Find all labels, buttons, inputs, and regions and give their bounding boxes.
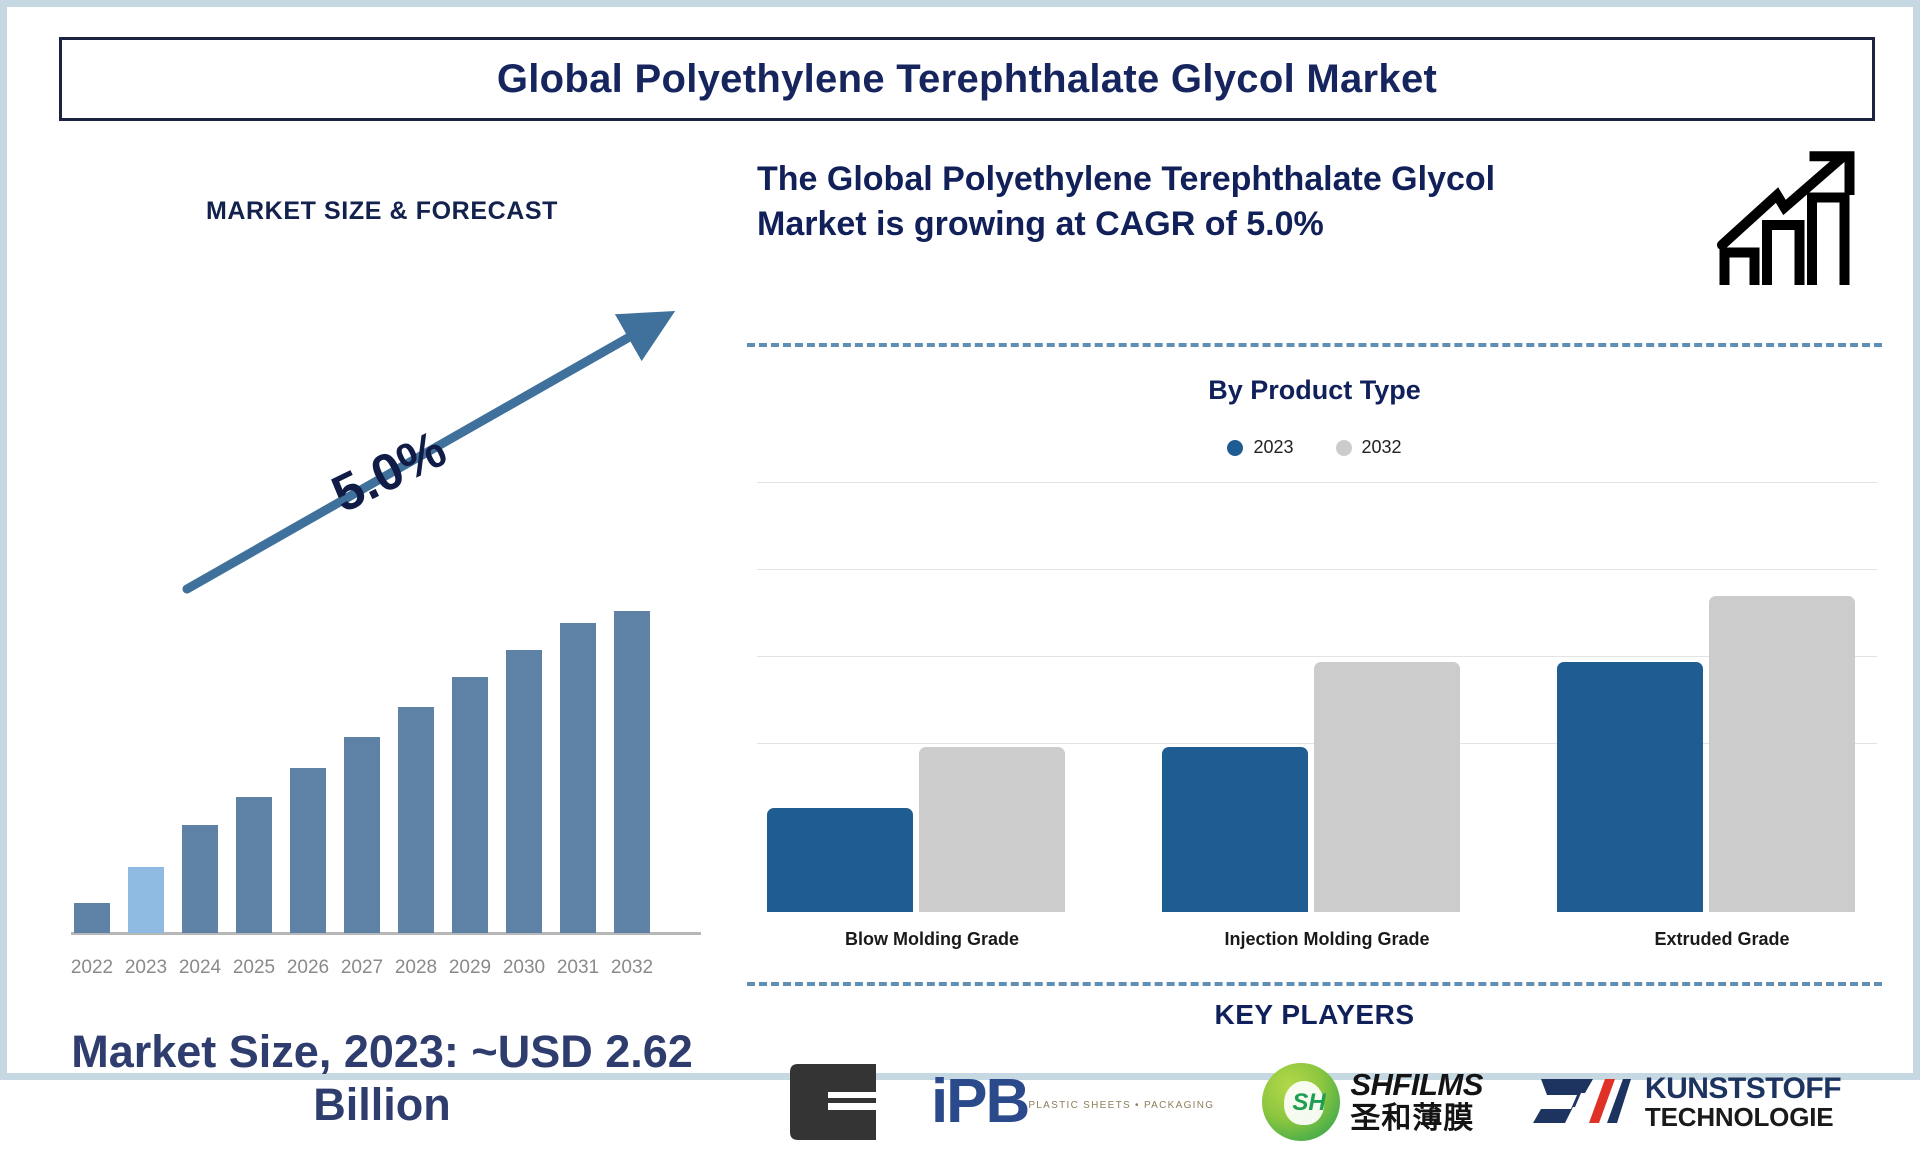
key-players-logos: iPB PLASTIC SHEETS • PACKAGING SH SHFILM… — [747, 1042, 1882, 1162]
sm-line-2: TECHNOLOGIE — [1645, 1104, 1841, 1130]
legend-dot-icon — [1336, 440, 1352, 456]
market-size-bar — [506, 650, 542, 933]
year-label: 2023 — [116, 957, 176, 979]
bar-2032 — [1314, 662, 1460, 912]
bar-group: Injection Molding Grade — [1162, 564, 1492, 912]
legend-dot-icon — [1227, 440, 1243, 456]
right-panel: The Global Polyethylene Terephthalate Gl… — [747, 137, 1897, 1057]
bar-2032 — [1709, 596, 1855, 912]
market-size-footer: Market Size, 2023: ~USD 2.62 Billion — [37, 1025, 727, 1131]
year-label: 2024 — [170, 957, 230, 979]
growth-chart-arrow-icon — [1712, 145, 1862, 295]
market-size-bar — [236, 797, 272, 933]
year-label: 2027 — [332, 957, 392, 979]
year-label: 2031 — [548, 957, 608, 979]
bar-2023 — [1162, 747, 1308, 912]
legend-item-2032: 2032 — [1336, 437, 1402, 458]
market-size-plot-area — [49, 297, 719, 947]
market-size-bar — [398, 707, 434, 933]
sm-line-1: KUNSTSTOFF — [1645, 1074, 1841, 1104]
logo-sm-kunststoff: KUNSTSTOFF TECHNOLOGIE — [1531, 1073, 1841, 1131]
ipb-tagline: PLASTIC SHEETS • PACKAGING — [1028, 1100, 1214, 1111]
divider-bottom — [747, 982, 1882, 986]
covestro-c-icon — [788, 1058, 883, 1146]
market-size-bar-chart: 5.0% 20222023202420252026202720282029203… — [49, 297, 719, 992]
legend-label: 2023 — [1253, 437, 1293, 458]
market-size-forecast-panel: MARKET SIZE & FORECAST 5.0% 202220232024… — [27, 137, 737, 1057]
chart-legend: 20232032 — [747, 437, 1882, 458]
by-product-type-chart: Blow Molding GradeInjection Molding Grad… — [757, 482, 1877, 912]
category-label: Injection Molding Grade — [1162, 929, 1492, 950]
bar-2023 — [1557, 662, 1703, 912]
title-box: Global Polyethylene Terephthalate Glycol… — [59, 37, 1875, 121]
category-label: Extruded Grade — [1557, 929, 1887, 950]
market-size-bar — [74, 903, 110, 933]
bar-group: Extruded Grade — [1557, 564, 1887, 912]
bar-2032 — [919, 747, 1065, 912]
infographic-canvas: Global Polyethylene Terephthalate Glycol… — [0, 0, 1920, 1080]
bar-2023 — [767, 808, 913, 912]
year-label: 2022 — [62, 957, 122, 979]
legend-item-2023: 2023 — [1227, 437, 1293, 458]
gridline — [757, 482, 1877, 483]
logo-sh-films: SH SHFILMS 圣和薄膜 — [1262, 1063, 1483, 1141]
year-label: 2025 — [224, 957, 284, 979]
market-size-bar — [344, 737, 380, 933]
year-label: 2026 — [278, 957, 338, 979]
year-label: 2030 — [494, 957, 554, 979]
by-product-type-title: By Product Type — [747, 375, 1882, 406]
sh-films-wordmark: SHFILMS — [1350, 1069, 1483, 1102]
market-size-bar — [128, 867, 164, 933]
sh-films-circle-icon: SH — [1262, 1063, 1340, 1141]
category-label: Blow Molding Grade — [767, 929, 1097, 950]
market-size-bar — [614, 611, 650, 933]
market-size-bar — [182, 825, 218, 933]
market-size-bar — [290, 768, 326, 933]
divider-top — [747, 343, 1882, 347]
sh-films-chinese-name: 圣和薄膜 — [1350, 1102, 1483, 1135]
x-axis-line — [71, 932, 701, 935]
logo-covestro — [788, 1058, 883, 1146]
year-axis-labels: 2022202320242025202620272028202920302031… — [49, 957, 719, 987]
ipb-wordmark: iPB — [931, 1071, 1028, 1133]
page-title: Global Polyethylene Terephthalate Glycol… — [497, 57, 1437, 102]
sm-mark-icon — [1531, 1073, 1631, 1131]
market-size-bar — [560, 623, 596, 933]
logo-ipb: iPB PLASTIC SHEETS • PACKAGING — [931, 1071, 1214, 1133]
legend-label: 2032 — [1362, 437, 1402, 458]
key-players-title: KEY PLAYERS — [747, 999, 1882, 1031]
year-label: 2028 — [386, 957, 446, 979]
headline-text: The Global Polyethylene Terephthalate Gl… — [757, 157, 1557, 247]
bar-group: Blow Molding Grade — [767, 564, 1097, 912]
market-size-heading: MARKET SIZE & FORECAST — [27, 197, 737, 226]
year-label: 2029 — [440, 957, 500, 979]
sh-monogram: SH — [1292, 1089, 1325, 1117]
year-label: 2032 — [602, 957, 662, 979]
market-size-bar — [452, 677, 488, 933]
